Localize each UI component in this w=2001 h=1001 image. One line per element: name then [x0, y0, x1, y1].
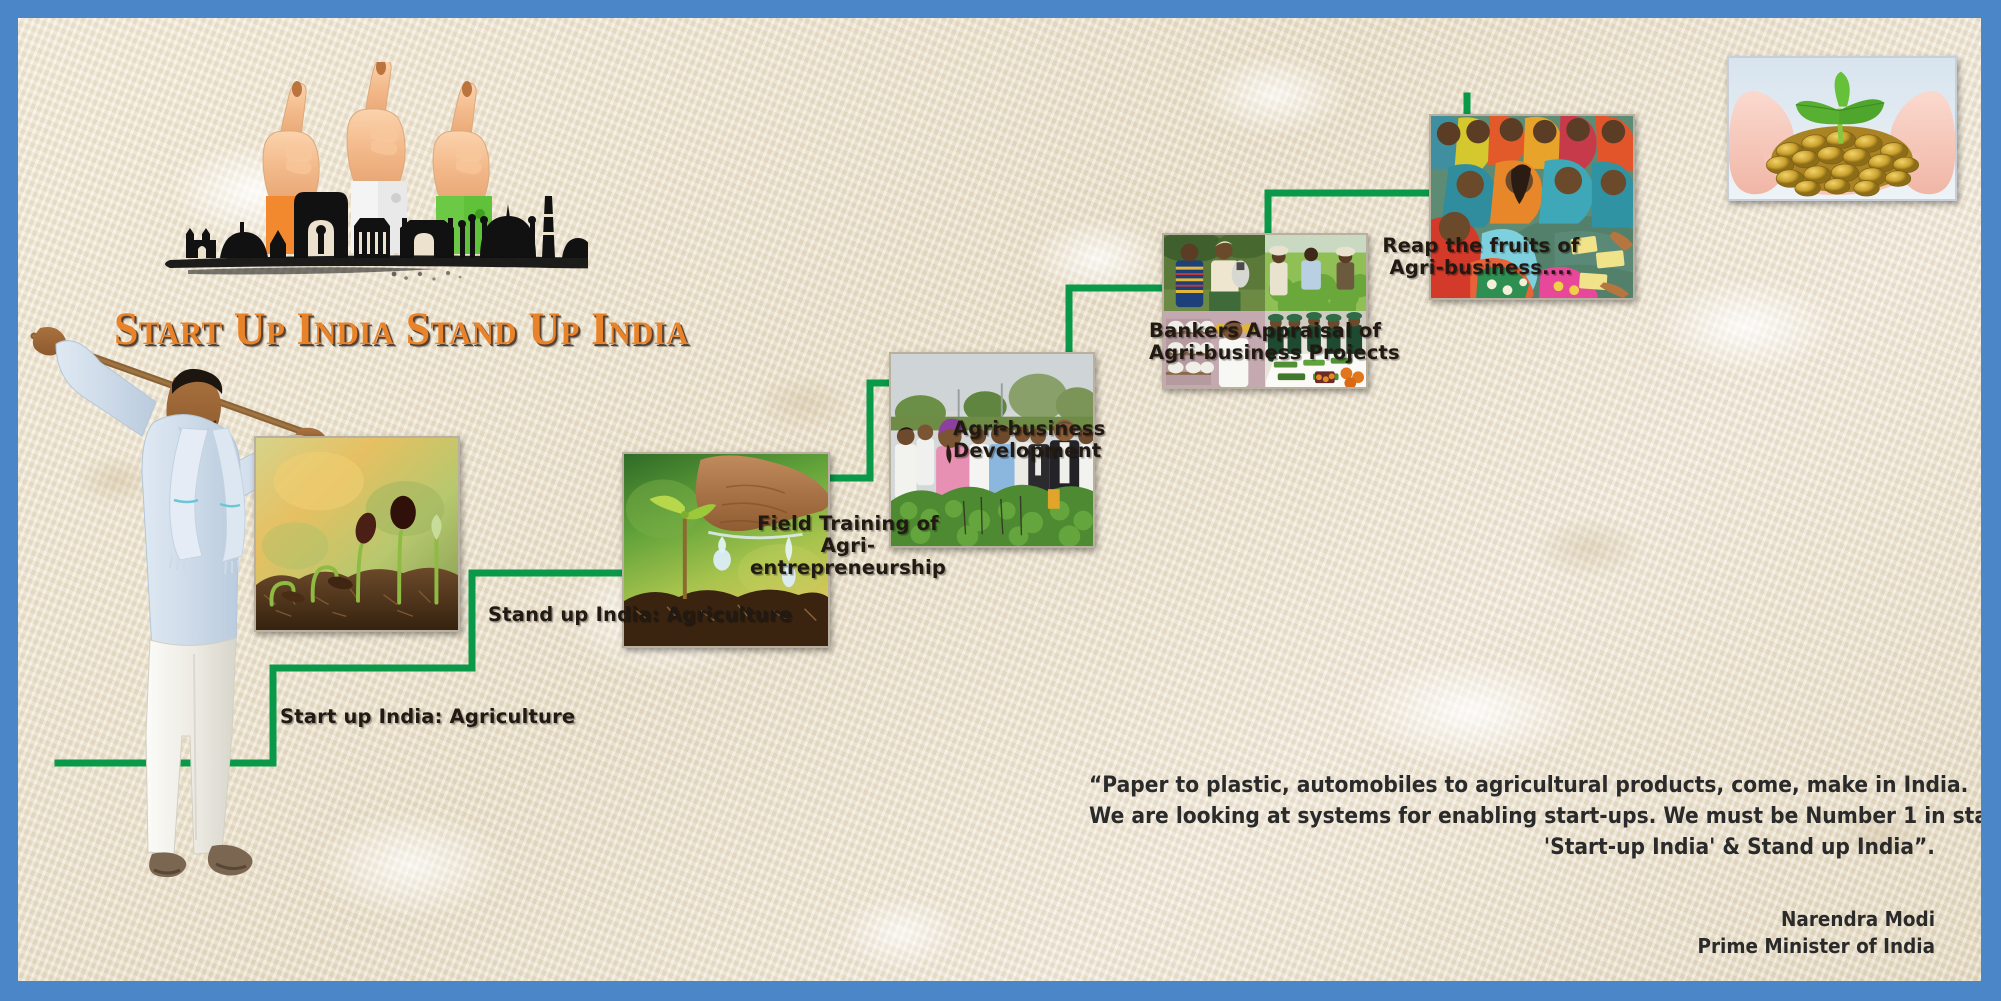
caption-reap-the-fruits: Reap the fruits of Agri-business....	[1356, 235, 1606, 279]
quote-attribution: Narendra Modi Prime Minister of India	[1291, 906, 1935, 960]
start-up-india-logo	[158, 62, 588, 292]
hands-holding-coins-with-plant-photo	[1727, 56, 1957, 201]
caption-start-up-india-agriculture: Start up India: Agriculture	[280, 706, 575, 728]
quote-line-2: We are looking at systems for enabling s…	[1089, 801, 1935, 832]
agri-business-collage-photo	[1162, 233, 1368, 389]
caption-field-training: Field Training of Agri-entrepreneurship	[723, 513, 973, 578]
quote-author-title: Prime Minister of India	[1291, 933, 1935, 960]
caption-stand-up-india-agriculture: Stand up India: Agriculture	[488, 604, 792, 626]
poster-frame: Start Up India Stand Up India	[0, 0, 2001, 1001]
quote-line-3: 'Start-up India' & Stand up India”.	[1089, 832, 1935, 863]
caption-bankers-appraisal: Bankers Appraisal of Agri-business Proje…	[1149, 320, 1429, 364]
poster-canvas: Start Up India Stand Up India	[18, 18, 1981, 981]
quote-author: Narendra Modi	[1291, 906, 1935, 933]
seedlings-sprouting-in-soil-photo	[254, 436, 460, 632]
caption-agri-business-development: Agri-business Development	[953, 418, 1193, 462]
quote-line-1: “Paper to plastic, automobiles to agricu…	[1089, 770, 1935, 801]
farmer-with-stick-illustration	[26, 318, 346, 958]
quote-block: “Paper to plastic, automobiles to agricu…	[1089, 770, 1935, 863]
